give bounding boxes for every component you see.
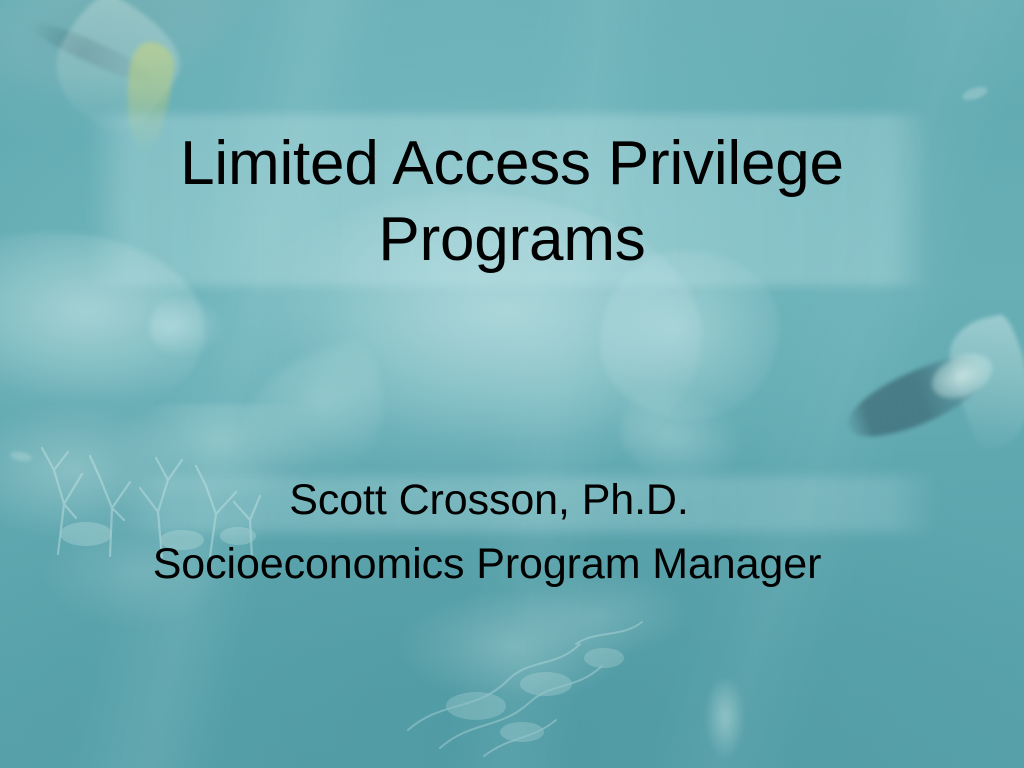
slide-title-line-1: Limited Access Privilege — [0, 126, 1024, 202]
coral-plume-bottom — [690, 680, 760, 768]
coral-rubble-center-icon — [380, 580, 710, 760]
slide-subtitle: Scott Crosson, Ph.D. Socioeconomics Prog… — [0, 468, 1024, 596]
light-shafts-overlay — [0, 0, 1024, 768]
fish-right-edge-tail — [943, 312, 1024, 452]
slide-title-line-2: Programs — [0, 202, 1024, 278]
fish-left-edge-snout — [150, 296, 222, 356]
slide-title: Limited Access Privilege Programs — [0, 126, 1024, 278]
coral-reef-center — [356, 566, 716, 766]
presenter-name: Scott Crosson, Ph.D. — [0, 468, 1024, 532]
fish-small-left — [9, 450, 32, 463]
fish-right-edge — [838, 344, 996, 453]
fish-top-left — [0, 0, 264, 137]
fish-top-left-fin — [36, 0, 196, 147]
presenter-title: Socioeconomics Program Manager — [0, 532, 1024, 596]
fish-small-top-right — [961, 84, 989, 102]
fish-right-edge-pale-patch — [925, 345, 1000, 408]
underwater-background — [0, 0, 1024, 768]
fish-top-left-shadow — [26, 14, 163, 91]
presentation-slide: Limited Access Privilege Programs Scott … — [0, 0, 1024, 768]
